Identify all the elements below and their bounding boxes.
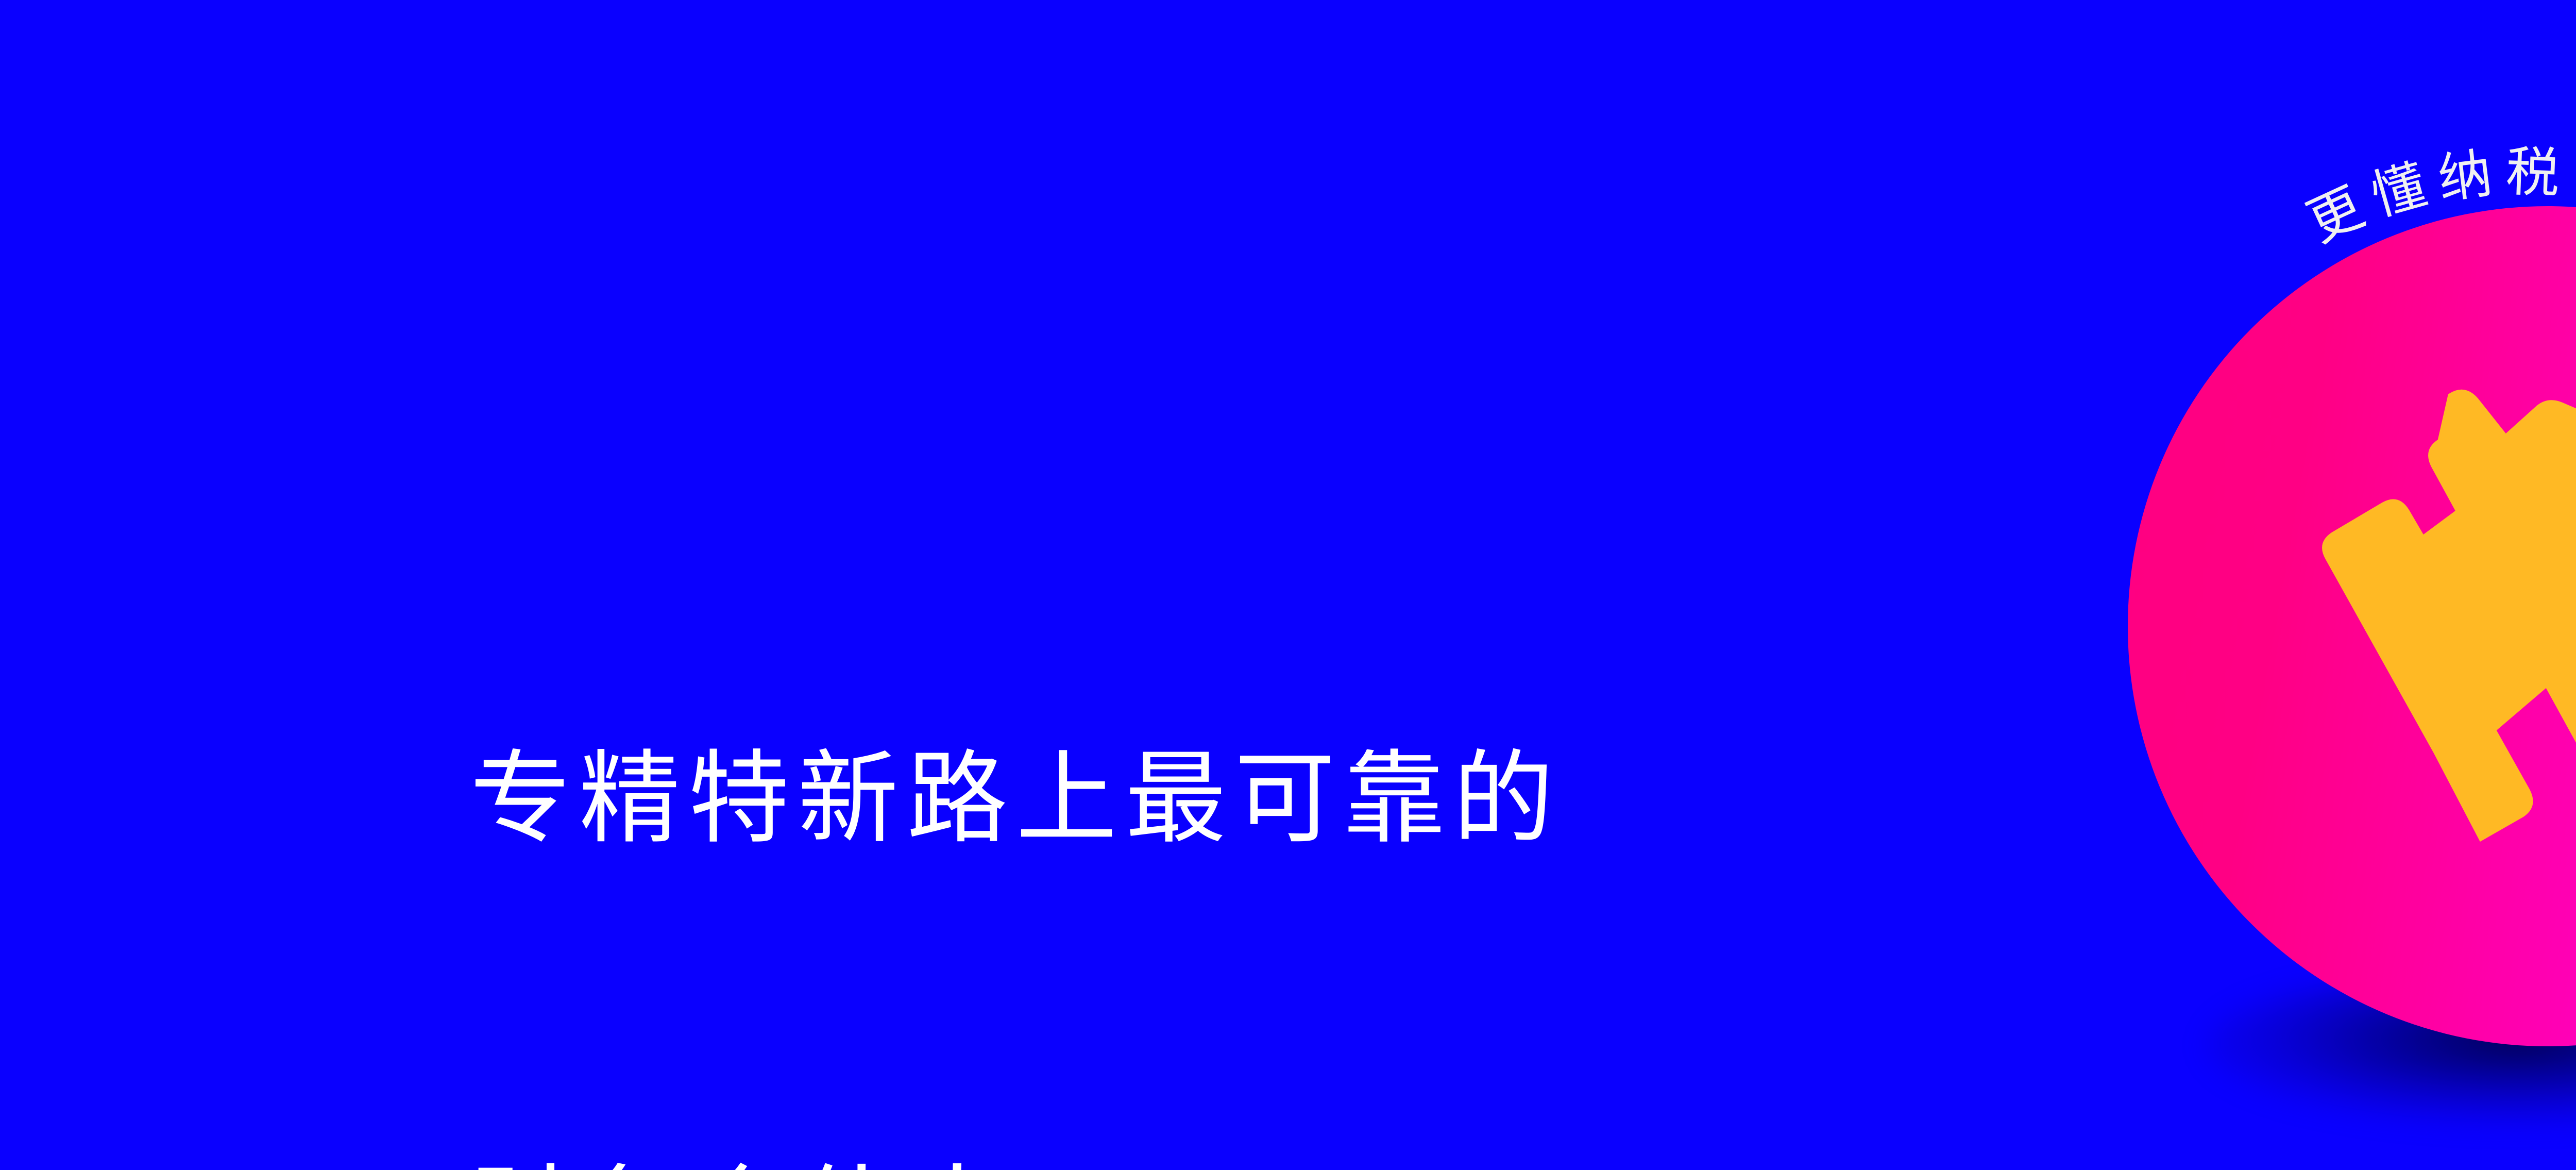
badge-arc-text: 更懂纳税合规的专精特新 <box>2081 160 2576 1093</box>
headline-line-2: 财务合伙人 <box>470 1144 1562 1170</box>
badge: 更懂纳税合规的专精特新 <box>2128 206 2576 1046</box>
headline-line-1: 专精特新路上最可靠的 <box>470 730 1562 868</box>
hero-banner: 专精特新路上最可靠的 财务合伙人 更懂纳税合规的专精特新 <box>0 0 2576 1170</box>
page-title: 专精特新路上最可靠的 财务合伙人 <box>470 454 1562 1170</box>
badge-arc-text-label: 更懂纳税合规的专精特新 <box>2299 142 2576 463</box>
